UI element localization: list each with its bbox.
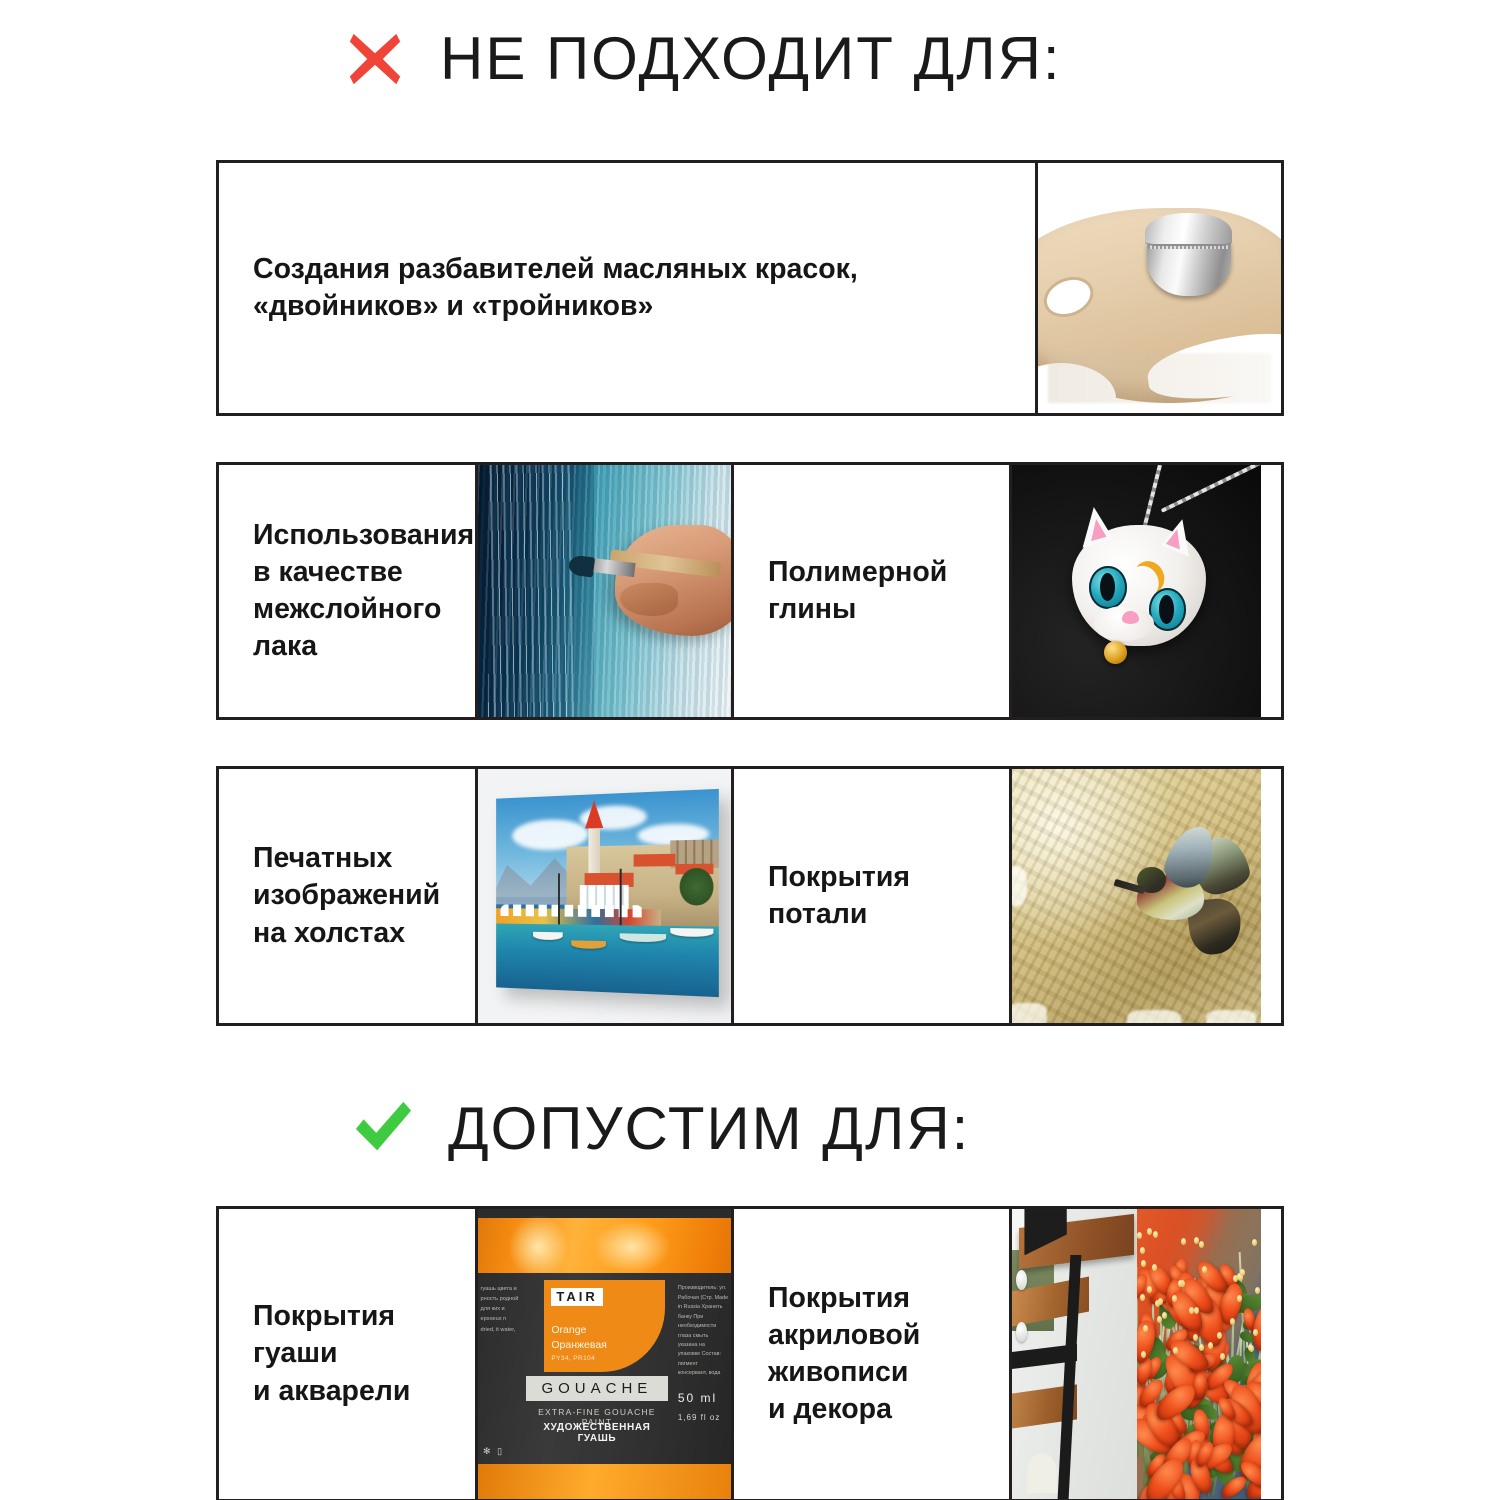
poppy-bud — [1147, 1228, 1152, 1235]
row-4-text-cell-left: Покрытия гуаши и акварели — [219, 1209, 475, 1499]
table-row: Использования в качестве межслойного лак… — [216, 462, 1284, 720]
row-2-text-cell-right: Полимерной глины — [731, 465, 1009, 717]
bottle-pigment-index: PY34, PR104 — [551, 1355, 595, 1362]
row-3-image-cell-right — [1009, 769, 1261, 1023]
poppy-bud — [1140, 1247, 1145, 1254]
bottle-label: гуашь цвета и рность родной для ких и ер… — [478, 1273, 731, 1464]
infographic-page: НЕ ПОДХОДИТ ДЛЯ: Создания разбавителей м… — [0, 0, 1500, 1500]
row-2-image-cell-left — [475, 465, 731, 717]
section-title: НЕ ПОДХОДИТ ДЛЯ: — [440, 29, 1062, 89]
tair-brand-logo: TAIR — [551, 1288, 602, 1306]
poppy-bud — [1233, 1275, 1238, 1282]
color-name-ru: Оранжевая — [551, 1339, 607, 1351]
bottle-color-name: OrangeОранжевая — [551, 1323, 607, 1353]
poppy-bud — [1173, 1347, 1178, 1354]
tair-orange-gouache-bottle-image: гуашь цвета и рность родной для ких и ер… — [478, 1209, 731, 1499]
polymer-clay-cat-pendant-image — [1012, 465, 1261, 717]
row-2-text-cell-left: Использования в качестве межслойного лак… — [219, 465, 475, 717]
poppy-bud — [1189, 1307, 1194, 1314]
row-2-label-right: Полимерной глины — [768, 554, 947, 628]
cat-nose-icon — [1122, 611, 1139, 624]
hummingbird-on-gold-leaf-image — [1012, 769, 1261, 1023]
row-4-image-cell-left: гуашь цвета и рность родной для ких и ер… — [475, 1209, 731, 1499]
poppy-bud — [1217, 1332, 1222, 1339]
row-3-text-cell-left: Печатных изображений на холстах — [219, 769, 475, 1023]
table-row: Печатных изображений на холстах — [216, 766, 1284, 1026]
bottle-product-band: GOUACHE — [526, 1376, 668, 1401]
green-check-icon — [352, 1098, 414, 1160]
row-2-image-cell-right — [1009, 465, 1261, 717]
bottle-volume-oz: 1,69 fl oz — [678, 1413, 720, 1422]
bottle-product-name: GOUACHE — [541, 1380, 652, 1397]
poppy-bud — [1162, 1312, 1167, 1319]
poppy-bud — [1240, 1269, 1245, 1276]
poppies-painting-image — [1137, 1209, 1262, 1499]
poppy-bud — [1141, 1351, 1146, 1358]
poppy-bud — [1199, 1241, 1204, 1248]
row-1-image-cell — [1035, 163, 1281, 413]
metal-dipper-cup-icon — [1145, 213, 1232, 296]
row-4-label-left: Покрытия гуаши и акварели — [253, 1298, 410, 1409]
bottle-subtitle-ru: ХУДОЖЕСТВЕННАЯ ГУАШЬ — [526, 1422, 668, 1444]
hummingbird-icon — [1122, 830, 1251, 962]
hand-icon — [615, 525, 731, 636]
row-1-label: Создания разбавителей масляных красок, «… — [253, 251, 858, 325]
table-row: Создания разбавителей масляных красок, «… — [216, 160, 1284, 416]
section-header-not-suitable: НЕ ПОДХОДИТ ДЛЯ: — [344, 28, 1062, 90]
bottle-care-marks: ✻ ▯ — [483, 1446, 504, 1457]
section-title: ДОПУСТИМ ДЛЯ: — [448, 1099, 970, 1159]
poppy-bud — [1141, 1260, 1146, 1267]
bottle-label-right-column: Производитель: ул. Рабочая (Стр. Made in… — [678, 1284, 729, 1379]
section-header-acceptable: ДОПУСТИМ ДЛЯ: — [352, 1098, 970, 1160]
row-4-label-right: Покрытия акриловой живописи и декора — [768, 1280, 920, 1428]
wooden-palette-with-dipper-cup-image — [1038, 163, 1281, 413]
bottle-volume-ml: 50 ml — [678, 1391, 717, 1405]
poppy-bud — [1237, 1295, 1242, 1302]
bottle-label-left-column: гуашь цвета и рность родной для ких и ер… — [481, 1284, 519, 1334]
row-3-image-cell-left — [475, 769, 731, 1023]
poppy-bud — [1181, 1238, 1186, 1245]
poppy-bud — [1208, 1342, 1213, 1349]
poppy-bud — [1255, 1287, 1260, 1294]
table-row: Покрытия гуаши и акварели гуашь цвета и … — [216, 1206, 1284, 1500]
row-3-label-left: Печатных изображений на холстах — [253, 840, 440, 951]
row-3-label-right: Покрытия потали — [768, 859, 910, 933]
color-name-en: Orange — [551, 1324, 586, 1336]
red-x-icon — [344, 28, 406, 90]
printed-canvas-harbour-town-image — [478, 769, 731, 1023]
bell-icon — [1104, 641, 1126, 664]
row-1-text-cell: Создания разбавителей масляных красок, «… — [219, 163, 1035, 413]
poppy-bud — [1252, 1239, 1257, 1246]
poppy-bud — [1253, 1329, 1258, 1336]
cat-eye-left-icon — [1089, 566, 1126, 609]
painted-furniture-image — [1012, 1209, 1137, 1499]
hand-painting-blue-canvas-image — [478, 465, 731, 717]
row-2-label-left: Использования в качестве межслойного лак… — [253, 517, 474, 665]
row-4-image-cell-right — [1009, 1209, 1261, 1499]
row-3-text-cell-right: Покрытия потали — [731, 769, 1009, 1023]
row-4-text-cell-right: Покрытия акриловой живописи и декора — [731, 1209, 1009, 1499]
